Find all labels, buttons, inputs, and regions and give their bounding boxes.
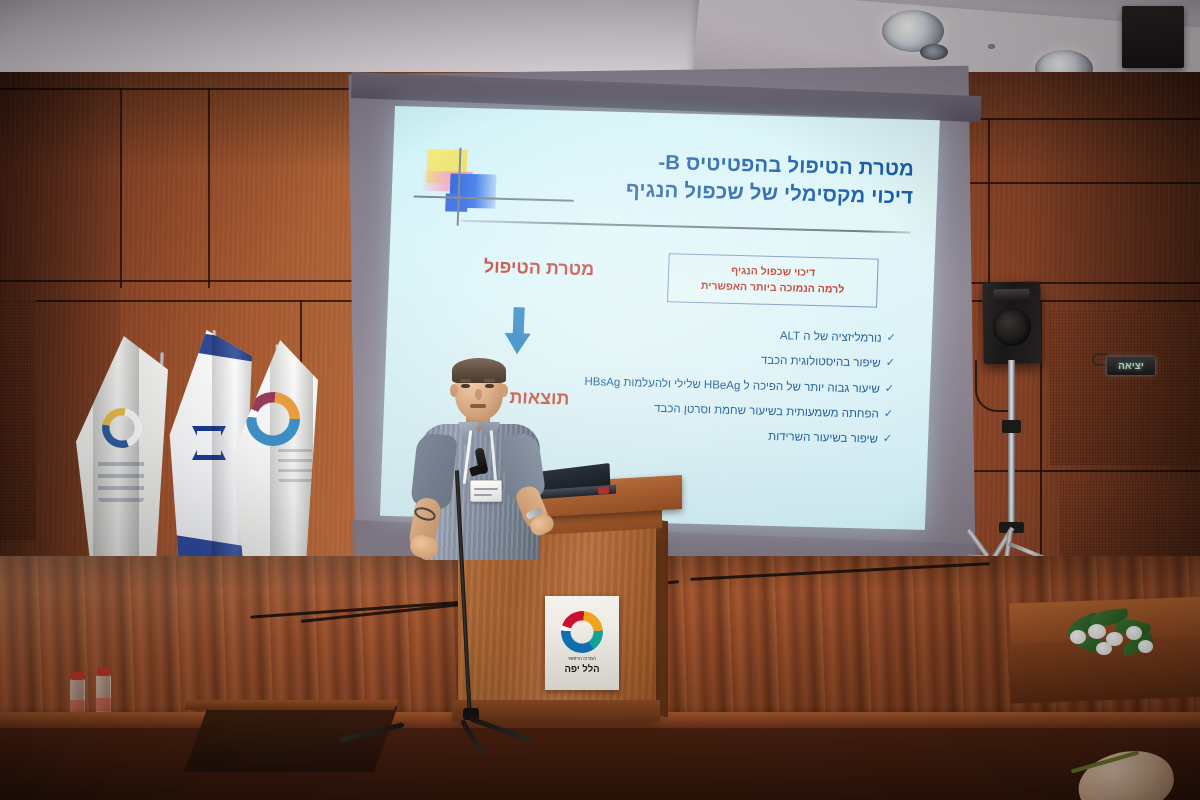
presenter-ear-left: [450, 384, 458, 397]
wall-seam: [988, 118, 990, 298]
wall-seam: [208, 88, 210, 288]
bottle-cap: [97, 668, 110, 676]
slide-title: מטרת הטיפול בהפטיטיס B- דיכוי מקסימלי של…: [523, 145, 915, 212]
podium-base: [452, 700, 660, 722]
check-icon: ✓: [883, 432, 893, 448]
flower: [1096, 642, 1112, 655]
presenter-eye-right: [485, 384, 494, 388]
stage-pit: [184, 706, 398, 772]
slide-goal-box: דיכוי שכפול הנגיף לרמה הנמוכה ביותר האפש…: [667, 253, 879, 307]
presenter-brow-right: [484, 379, 495, 382]
check-icon: ✓: [884, 407, 894, 423]
presenter-eye-left: [461, 384, 470, 388]
speaker-stand-pole: [1008, 360, 1015, 528]
list-item: ✓ הפחתה משמעותית בשיעור שחמת וסרטן הכבד: [563, 398, 894, 423]
speaker-stand-clamp[interactable]: [1002, 420, 1021, 433]
ring-logo-icon: [557, 607, 608, 658]
bottle-cap: [71, 672, 84, 680]
check-icon: ✓: [884, 382, 894, 398]
logo-subtitle: המרכז הרפואי: [568, 656, 596, 661]
flag-logo-icon: [102, 408, 142, 448]
slide-decoration-icon: [419, 147, 522, 228]
title-divider: [461, 220, 911, 233]
stage-pit-lip: [184, 700, 398, 710]
flag-text-mark: [98, 454, 144, 502]
list-item: ✓ שיפור בשיעור השרידות: [562, 424, 893, 449]
bullet-text: נורמליזציה של ה ALT: [566, 323, 882, 348]
check-icon: ✓: [886, 331, 896, 347]
ceiling-vent: [920, 44, 948, 60]
slide-section-label: מטרת הטיפול: [414, 255, 595, 281]
bullet-text: שיפור בהיסטולוגית הכבד: [565, 348, 881, 373]
slide-bullet-list: ✓ נורמליזציה של ה ALT ✓ שיפור בהיסטולוגי…: [562, 323, 897, 458]
presenter-sleeve-left: [410, 432, 458, 510]
badge-text-line: [474, 488, 498, 490]
list-item: ✓ נורמליזציה של ה ALT: [566, 323, 897, 348]
flower: [1138, 640, 1153, 653]
presenter-mouth: [470, 404, 486, 408]
exit-sign: יציאה: [1106, 356, 1156, 376]
arrow-head: [504, 333, 531, 355]
presenter-nose: [475, 389, 482, 400]
down-arrow-icon: [504, 307, 532, 356]
flag-text-mark: [278, 448, 312, 482]
list-item: ✓ שיפור בהיסטולוגית הכבד: [565, 348, 896, 373]
arrow-stem: [513, 307, 525, 335]
stage-riser: [0, 728, 1200, 800]
flower: [1070, 630, 1086, 644]
bottle-label: [96, 698, 111, 711]
wall-seam: [120, 88, 122, 288]
name-badge: [470, 480, 502, 502]
flower: [1088, 624, 1106, 639]
flower: [1126, 626, 1142, 640]
auditorium-scene: מטרת הטיפול בהפטיטיס B- דיכוי מקסימלי של…: [0, 0, 1200, 800]
ceiling-speaker: [1122, 6, 1184, 68]
check-icon: ✓: [885, 356, 895, 372]
ceiling-sprinkler: [988, 44, 995, 49]
list-item: ✓ שיעור גבוה יותר של הפיכה ל HBeAg שלילי…: [564, 373, 895, 398]
bullet-text: שיעור גבוה יותר של הפיכה ל HBeAg שלילי ו…: [564, 373, 880, 398]
presenter-brow-left: [460, 379, 471, 382]
pa-speaker: [982, 282, 1041, 365]
badge-text-line: [474, 494, 492, 496]
bullet-text: הפחתה משמעותית בשיעור שחמת וסרטן הכבד: [563, 398, 879, 423]
podium-logo-plaque: המרכז הרפואי הלל יפה: [545, 596, 619, 690]
speaker-horn: [993, 289, 1029, 303]
speaker-cone: [993, 308, 1032, 347]
exit-sign-label: יציאה: [1118, 361, 1144, 372]
bullet-text: שיפור בשיעור השרידות: [562, 424, 878, 449]
logo-name: הלל יפה: [564, 664, 599, 675]
presenter-ear-right: [500, 384, 508, 397]
floral-arrangement: [1060, 608, 1170, 664]
speaker-cable: [975, 360, 1011, 412]
laptop-indicator: [598, 487, 609, 495]
